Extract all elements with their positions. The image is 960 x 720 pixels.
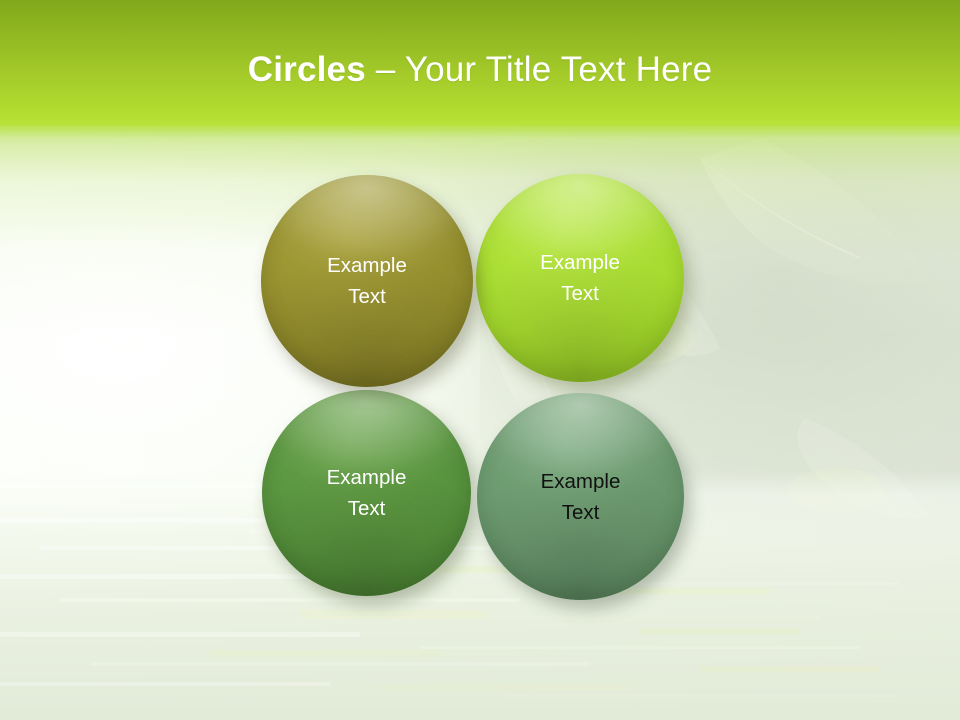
circle-bottom-right[interactable]: Example Text [477,393,684,600]
circle-bottom-left-label: Example Text [309,462,425,524]
circle-top-right-label: Example Text [522,247,638,309]
circle-top-left-line2: Text [348,285,386,308]
circles-diagram: Example Text Example Text Example Text E… [0,0,960,720]
circle-top-left[interactable]: Example Text [261,175,473,387]
circle-bottom-right-line2: Text [562,501,600,524]
circle-bottom-left[interactable]: Example Text [262,390,471,596]
circle-top-right-line2: Text [561,282,599,305]
circle-bottom-left-line2: Text [348,497,386,520]
circle-top-right-line1: Example [540,251,620,274]
circle-bottom-right-line1: Example [541,470,621,493]
circle-top-left-label: Example Text [309,250,425,312]
circle-top-left-line1: Example [327,254,407,277]
circle-bottom-left-line1: Example [327,466,407,489]
circle-top-right[interactable]: Example Text [476,174,684,382]
circle-bottom-right-label: Example Text [523,466,639,528]
presentation-slide: Circles – Your Title Text Here Example T… [0,0,960,720]
